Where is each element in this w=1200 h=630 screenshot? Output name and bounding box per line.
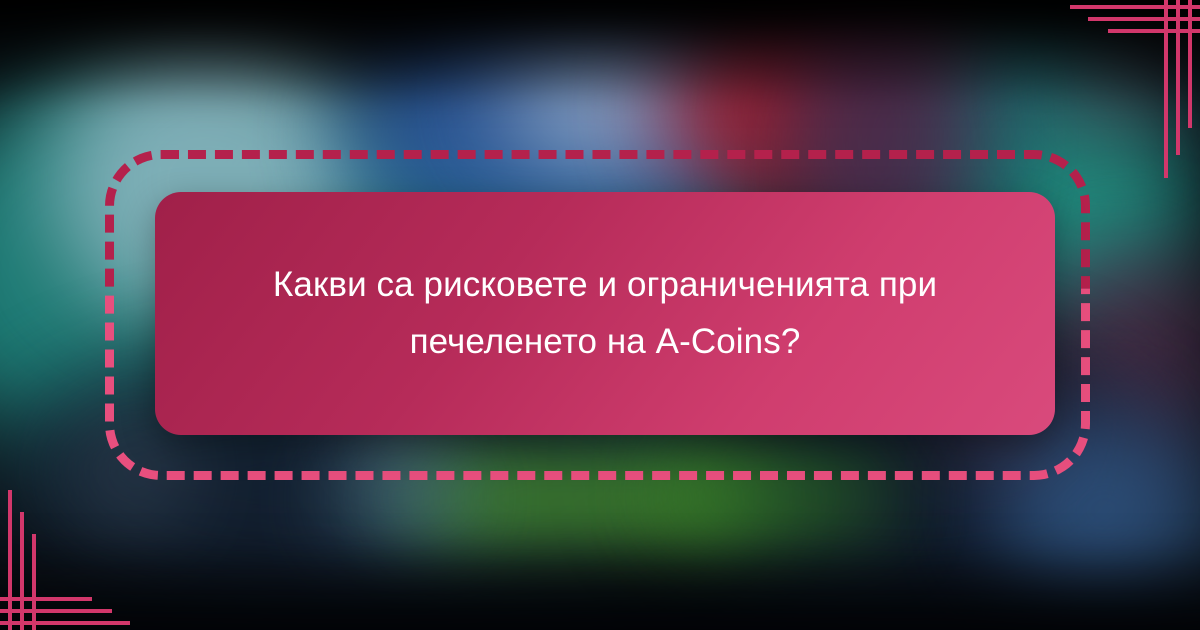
background-blob-green-bar-dim [680, 470, 880, 524]
share-card-canvas: Какви са рисковете и ограниченията при п… [0, 0, 1200, 630]
question-text: Какви са рисковете и ограниченията при п… [225, 257, 985, 370]
background-blob-cyan-bar [345, 475, 455, 521]
question-card: Какви са рисковете и ограниченията при п… [155, 192, 1055, 435]
background-bottom-vignette [0, 540, 1200, 630]
background-top-vignette [0, 0, 1200, 100]
